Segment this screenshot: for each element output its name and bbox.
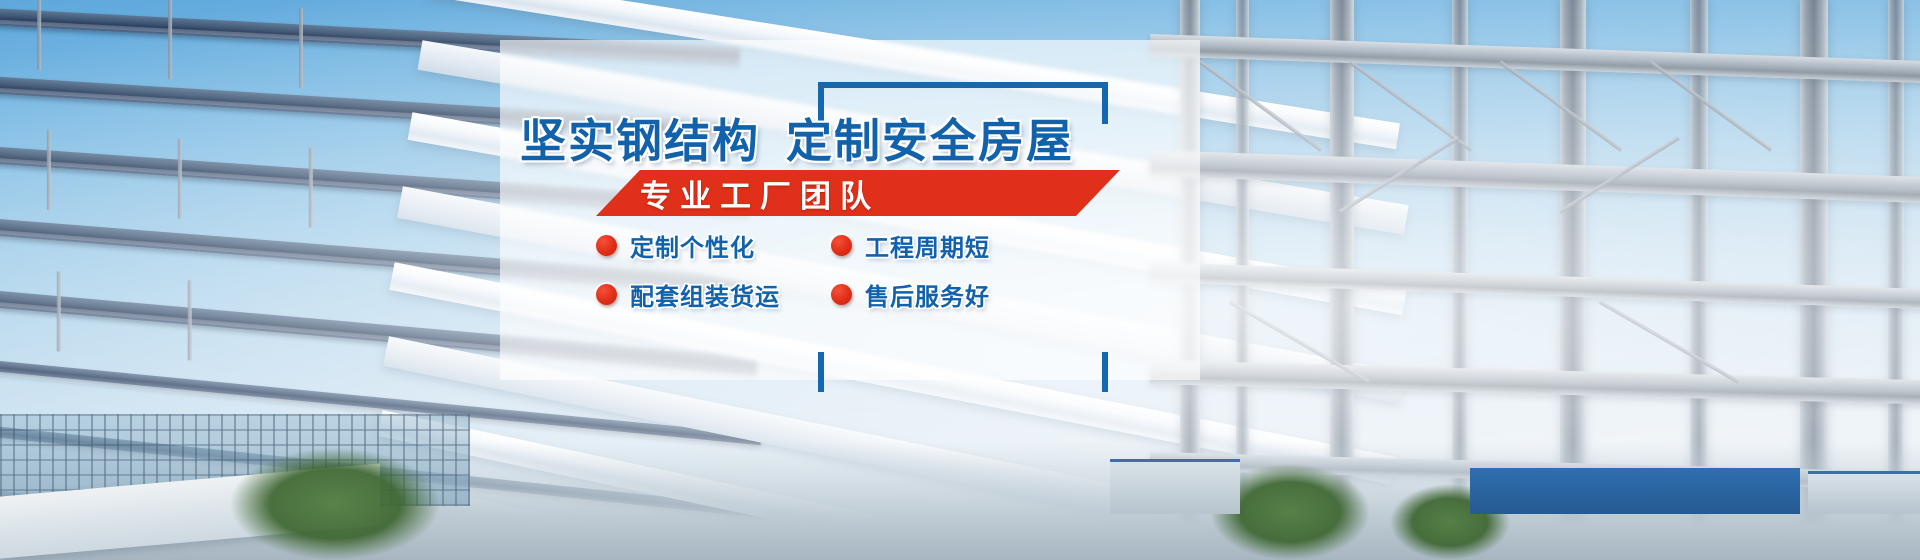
headline-part-1: 坚实钢结构 [520, 115, 760, 167]
far-building [1110, 459, 1240, 514]
feature-list: 定制个性化 工程周期短 配套组装货运 售后服务好 [596, 228, 1076, 312]
red-dot-icon [831, 235, 852, 256]
list-item: 定制个性化 [596, 228, 811, 263]
ribbon-label: 专业工厂团队 [640, 170, 880, 216]
list-item: 工程周期短 [831, 228, 1046, 263]
red-dot-icon [596, 235, 617, 256]
list-item-label: 售后服务好 [865, 277, 990, 312]
list-item-label: 工程周期短 [865, 228, 990, 263]
list-item: 售后服务好 [831, 277, 1046, 312]
far-building [1808, 471, 1920, 514]
list-item: 配套组装货运 [596, 277, 811, 312]
red-dot-icon [831, 284, 852, 305]
red-dot-icon [596, 284, 617, 305]
page-title: 坚实钢结构定制安全房屋 [520, 118, 1180, 164]
hero-banner: 坚实钢结构定制安全房屋 专业工厂团队 定制个性化 工程周期短 配套组装货运 售后… [0, 0, 1920, 560]
list-item-label: 定制个性化 [630, 228, 755, 263]
headline-part-2: 定制安全房屋 [786, 115, 1074, 167]
list-item-label: 配套组装货运 [630, 277, 780, 312]
tree-cluster [230, 448, 440, 560]
far-building [1470, 468, 1800, 514]
